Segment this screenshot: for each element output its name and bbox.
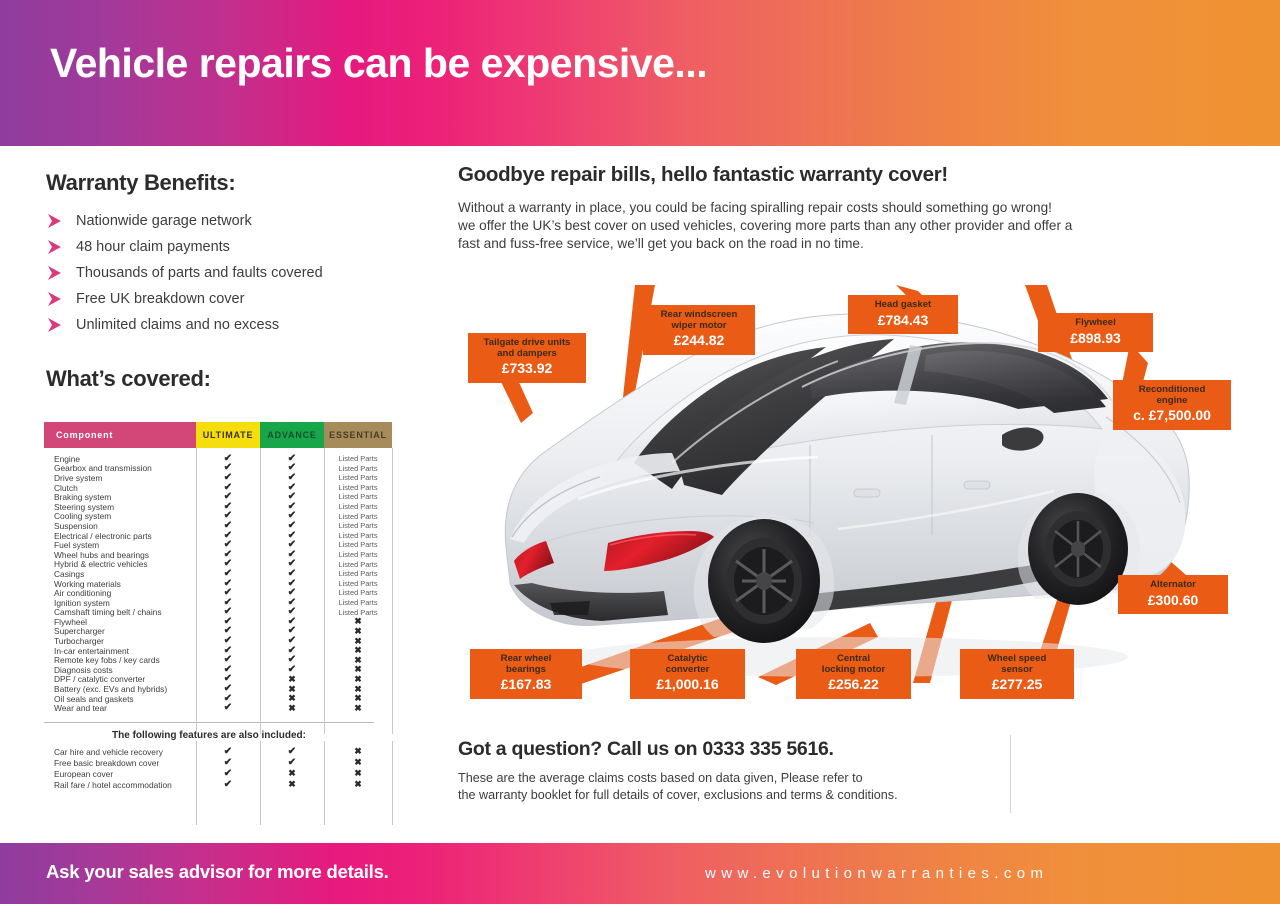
table-header-essential: ESSENTIAL [324,422,392,448]
door-handle-front [964,481,990,489]
callout-wiper-price: £244.82 [653,333,745,349]
table-row: Suspension✔✔Listed Parts [44,521,392,531]
cell-essential: ✖ [324,769,392,778]
callout-wheel-speed-title-2: sensor [970,665,1064,676]
table-row: Clutch✔✔Listed Parts [44,483,392,493]
cross-icon: ✖ [354,758,362,767]
main-paragraph-line-2: we offer the UK’s best cover on used veh… [458,217,1248,235]
component-name: Cooling system [44,511,196,521]
benefit-item-label: Free UK breakdown cover [76,291,244,307]
cell-essential: Listed Parts [324,551,392,558]
car-diagram-area: Tailgate drive units and dampers £733.92… [458,285,1248,715]
callout-recon-engine-title-2: engine [1123,396,1221,407]
component-name: Rail fare / hotel accommodation [44,780,196,790]
component-name: Flywheel [44,617,196,627]
listed-parts-label: Listed Parts [338,561,377,568]
cell-essential: Listed Parts [324,513,392,520]
table-row: Braking system✔✔Listed Parts [44,492,392,502]
table-row: Oil seals and gaskets✔✖✖ [44,694,392,704]
cell-essential: Listed Parts [324,589,392,596]
callout-head-gasket-title-1: Head gasket [858,300,948,311]
table-row: Camshaft timing belt / chains✔✔Listed Pa… [44,608,392,618]
whats-covered-heading: What’s covered: [46,366,406,392]
table-row: Ignition system✔✔Listed Parts [44,598,392,608]
table-row: Electrical / electronic parts✔✔Listed Pa… [44,531,392,541]
table-row: Hybrid & electric vehicles✔✔Listed Parts [44,560,392,570]
rear-wheel [708,519,820,643]
tick-icon: ✔ [224,780,232,790]
component-name: Gearbox and transmission [44,463,196,473]
table-row: Diagnosis costs✔✔✖ [44,665,392,675]
cross-icon: ✖ [288,780,296,789]
table-row: Remote key fobs / key cards✔✔✖ [44,655,392,665]
cell-essential: ✖ [324,627,392,636]
cross-icon: ✖ [354,646,362,655]
component-name: Camshaft timing belt / chains [44,607,196,617]
page-title: Vehicle repairs can be expensive... [50,40,707,87]
listed-parts-label: Listed Parts [338,465,377,472]
cross-icon: ✖ [288,704,296,713]
callout-rear-wheel-title-2: bearings [480,665,572,676]
benefit-item: Unlimited claims and no excess [46,312,406,338]
tick-icon: ✔ [288,747,296,757]
cross-icon: ✖ [354,694,362,703]
callout-wheel-speed-sensor[interactable]: Wheel speed sensor £277.25 [960,649,1074,699]
left-column: Warranty Benefits: Nationwide garage net… [46,170,406,392]
table-row: Gearbox and transmission✔✔Listed Parts [44,464,392,474]
callout-head-gasket[interactable]: Head gasket £784.43 [848,295,958,334]
cell-essential: ✖ [324,747,392,756]
benefit-item-label: Nationwide garage network [76,213,252,229]
footer-cta: Ask your sales advisor for more details. [46,861,389,883]
cell-essential: ✖ [324,646,392,655]
tick-icon: ✔ [288,758,296,768]
table-row: Free basic breakdown cover✔✔✖ [44,757,392,768]
component-name: Clutch [44,483,196,493]
component-name: Working materials [44,579,196,589]
table-row: Steering system✔✔Listed Parts [44,502,392,512]
door-handle-rear [854,489,880,497]
table-row: DPF / catalytic converter✔✖✖ [44,675,392,685]
chevron-right-icon [46,239,76,255]
chevron-right-icon [46,213,76,229]
cell-essential: Listed Parts [324,570,392,577]
cell-advance: ✔ [260,747,324,757]
cell-essential: ✖ [324,675,392,684]
footer-banner: Ask your sales advisor for more details.… [0,843,1280,904]
callout-flywheel[interactable]: Flywheel £898.93 [1038,313,1153,352]
callout-wheel-speed-price: £277.25 [970,677,1064,693]
warranty-benefits-heading: Warranty Benefits: [46,170,406,196]
table2-divider-4 [392,741,393,825]
table-row: Air conditioning✔✔Listed Parts [44,588,392,598]
cell-essential: ✖ [324,758,392,767]
cell-essential: Listed Parts [324,465,392,472]
component-name: Fuel system [44,540,196,550]
cell-advance: ✖ [260,694,324,703]
cross-icon: ✖ [288,769,296,778]
contact-heading: Got a question? Call us on 0333 335 5616… [458,738,1018,761]
infographic-page: Vehicle repairs can be expensive... Warr… [0,0,1280,904]
listed-parts-label: Listed Parts [338,503,377,510]
listed-parts-label: Listed Parts [338,599,377,606]
listed-parts-label: Listed Parts [338,580,377,587]
table-row: Flywheel✔✔✖ [44,617,392,627]
tick-icon: ✔ [224,703,232,713]
listed-parts-label: Listed Parts [338,484,377,491]
table-body-wrap: Engine✔✔Listed PartsGearbox and transmis… [44,448,392,713]
cell-advance: ✖ [260,780,324,789]
table-body-2-wrap: Car hire and vehicle recovery✔✔✖Free bas… [44,741,392,790]
callout-catalytic-title-2: converter [640,665,735,676]
cell-advance: ✖ [260,704,324,713]
callout-alternator-title-1: Alternator [1128,580,1218,591]
callout-tailgate[interactable]: Tailgate drive units and dampers £733.92 [468,333,586,383]
cell-essential: Listed Parts [324,541,392,548]
cell-essential: Listed Parts [324,609,392,616]
listed-parts-label: Listed Parts [338,609,377,616]
callout-central-locking-price: £256.22 [806,677,901,693]
cell-essential: Listed Parts [324,561,392,568]
table-row: Wear and tear✔✖✖ [44,703,392,713]
cell-ultimate: ✔ [196,703,260,713]
component-name: Battery (exc. EVs and hybrids) [44,684,196,694]
benefit-item: Free UK breakdown cover [46,286,406,312]
component-name: Air conditioning [44,588,196,598]
disclaimer-line-1: These are the average claims costs based… [458,770,1018,787]
callout-catalytic-price: £1,000.16 [640,677,735,693]
component-name: Suspension [44,521,196,531]
callout-recon-engine-price: c. £7,500.00 [1123,408,1221,424]
callout-wiper-title-2: wiper motor [653,321,745,332]
component-name: Steering system [44,502,196,512]
table-row: Drive system✔✔Listed Parts [44,473,392,483]
tick-icon: ✔ [224,769,232,779]
chevron-right-icon [46,291,76,307]
coverage-table: Component ULTIMATE ADVANCE ESSENTIAL Eng… [44,422,392,790]
listed-parts-label: Listed Parts [338,513,377,520]
car-body [505,314,1189,677]
callout-alternator[interactable]: Alternator £300.60 [1118,575,1228,614]
table-header-ultimate: ULTIMATE [196,422,260,448]
callout-tailgate-price: £733.92 [478,361,576,377]
component-name: Diagnosis costs [44,665,196,675]
table-row: Supercharger✔✔✖ [44,627,392,637]
component-name: Oil seals and gaskets [44,694,196,704]
table-row: Rail fare / hotel accommodation✔✖✖ [44,779,392,790]
component-name: In-car entertainment [44,646,196,656]
component-name: Car hire and vehicle recovery [44,747,196,757]
cross-icon: ✖ [354,780,362,789]
benefits-list: Nationwide garage network48 hour claim p… [46,208,406,338]
table-body-2: Car hire and vehicle recovery✔✔✖Free bas… [44,741,392,790]
table-row: European cover✔✖✖ [44,768,392,779]
benefit-item: Nationwide garage network [46,208,406,234]
table-body: Engine✔✔Listed PartsGearbox and transmis… [44,448,392,713]
table-row: In-car entertainment✔✔✖ [44,646,392,656]
component-name: Hybrid & electric vehicles [44,559,196,569]
component-name: Ignition system [44,598,196,608]
footer-website[interactable]: www.evolutionwarranties.com [705,865,1048,882]
cell-essential: Listed Parts [324,599,392,606]
cell-essential: Listed Parts [324,503,392,510]
cell-advance: ✔ [260,758,324,768]
table-row: Casings✔✔Listed Parts [44,569,392,579]
listed-parts-label: Listed Parts [338,493,377,500]
cross-icon: ✖ [354,747,362,756]
table-row: Cooling system✔✔Listed Parts [44,512,392,522]
component-name: Wear and tear [44,703,196,713]
table-row: Working materials✔✔Listed Parts [44,579,392,589]
cell-advance: ✖ [260,675,324,684]
contact-block: Got a question? Call us on 0333 335 5616… [458,738,1018,804]
callout-central-locking[interactable]: Central locking motor £256.22 [796,649,911,699]
callout-alternator-price: £300.60 [1128,593,1218,609]
cross-icon: ✖ [288,694,296,703]
cross-icon: ✖ [354,675,362,684]
listed-parts-label: Listed Parts [338,570,377,577]
listed-parts-label: Listed Parts [338,551,377,558]
main-paragraph-line-1: Without a warranty in place, you could b… [458,199,1248,217]
listed-parts-label: Listed Parts [338,589,377,596]
listed-parts-label: Listed Parts [338,532,377,539]
main-paragraph-line-3: fast and fuss-free service, we’ll get yo… [458,235,1248,253]
cross-icon: ✖ [354,769,362,778]
listed-parts-label: Listed Parts [338,541,377,548]
main-paragraph: Without a warranty in place, you could b… [458,199,1248,253]
tick-icon: ✔ [224,758,232,768]
component-name: Supercharger [44,626,196,636]
cell-ultimate: ✔ [196,780,260,790]
cell-essential: ✖ [324,780,392,789]
table-row: Turbocharger✔✔✖ [44,636,392,646]
benefit-item-label: Thousands of parts and faults covered [76,265,323,281]
callout-tailgate-title-2: and dampers [478,349,576,360]
callout-central-locking-title-2: locking motor [806,665,901,676]
cell-ultimate: ✔ [196,769,260,779]
benefit-item: Thousands of parts and faults covered [46,260,406,286]
table-row: Fuel system✔✔Listed Parts [44,540,392,550]
table-row: Car hire and vehicle recovery✔✔✖ [44,746,392,757]
component-name: Free basic breakdown cover [44,758,196,768]
table-divider-4 [392,448,393,734]
callout-wiper-motor[interactable]: Rear windscreen wiper motor £244.82 [643,305,755,355]
cell-advance: ✖ [260,769,324,778]
front-wheel [1028,493,1128,605]
disclaimer-line-2: the warranty booklet for full details of… [458,787,1018,804]
right-column: Goodbye repair bills, hello fantastic wa… [458,163,1248,253]
disclaimer: These are the average claims costs based… [458,770,1018,804]
component-name: Braking system [44,492,196,502]
table-header-component: Component [44,422,196,448]
callout-flywheel-title-1: Flywheel [1048,318,1143,329]
cell-essential: ✖ [324,704,392,713]
component-name: Wheel hubs and bearings [44,550,196,560]
cell-ultimate: ✔ [196,747,260,757]
table-row: Wheel hubs and bearings✔✔Listed Parts [44,550,392,560]
table-header-row: Component ULTIMATE ADVANCE ESSENTIAL [44,422,392,448]
cell-essential: Listed Parts [324,455,392,462]
component-name: Casings [44,569,196,579]
component-name: Drive system [44,473,196,483]
cell-essential: ✖ [324,665,392,674]
vertical-divider [1010,735,1011,813]
component-name: Turbocharger [44,636,196,646]
listed-parts-label: Listed Parts [338,522,377,529]
main-heading: Goodbye repair bills, hello fantastic wa… [458,163,1248,187]
listed-parts-label: Listed Parts [338,474,377,481]
component-name: Engine [44,454,196,464]
benefit-item-label: 48 hour claim payments [76,239,230,255]
benefit-item: 48 hour claim payments [46,234,406,260]
cell-essential: Listed Parts [324,532,392,539]
chevron-right-icon [46,265,76,281]
cell-essential: Listed Parts [324,522,392,529]
cross-icon: ✖ [354,704,362,713]
callout-recon-engine[interactable]: Reconditioned engine c. £7,500.00 [1113,380,1231,430]
tick-icon: ✔ [224,747,232,757]
header-banner: Vehicle repairs can be expensive... [0,0,1280,146]
callout-catalytic-converter[interactable]: Catalytic converter £1,000.16 [630,649,745,699]
cell-ultimate: ✔ [196,758,260,768]
table-header-advance: ADVANCE [260,422,324,448]
cell-essential: Listed Parts [324,580,392,587]
benefit-item-label: Unlimited claims and no excess [76,317,279,333]
cross-icon: ✖ [288,675,296,684]
component-name: DPF / catalytic converter [44,674,196,684]
cross-icon: ✖ [354,627,362,636]
table-row: Battery (exc. EVs and hybrids)✔✖✖ [44,684,392,694]
callout-rear-wheel-price: £167.83 [480,677,572,693]
cell-essential: ✖ [324,694,392,703]
table-row: Engine✔✔Listed Parts [44,454,392,464]
cell-essential: Listed Parts [324,484,392,491]
component-name: European cover [44,769,196,779]
cell-essential: Listed Parts [324,493,392,500]
callout-head-gasket-price: £784.43 [858,313,948,329]
component-name: Remote key fobs / key cards [44,655,196,665]
chevron-right-icon [46,317,76,333]
callout-rear-wheel-bearings[interactable]: Rear wheel bearings £167.83 [470,649,582,699]
callout-flywheel-price: £898.93 [1048,331,1143,347]
listed-parts-label: Listed Parts [338,455,377,462]
cell-essential: Listed Parts [324,474,392,481]
component-name: Electrical / electronic parts [44,531,196,541]
cross-icon: ✖ [354,665,362,674]
